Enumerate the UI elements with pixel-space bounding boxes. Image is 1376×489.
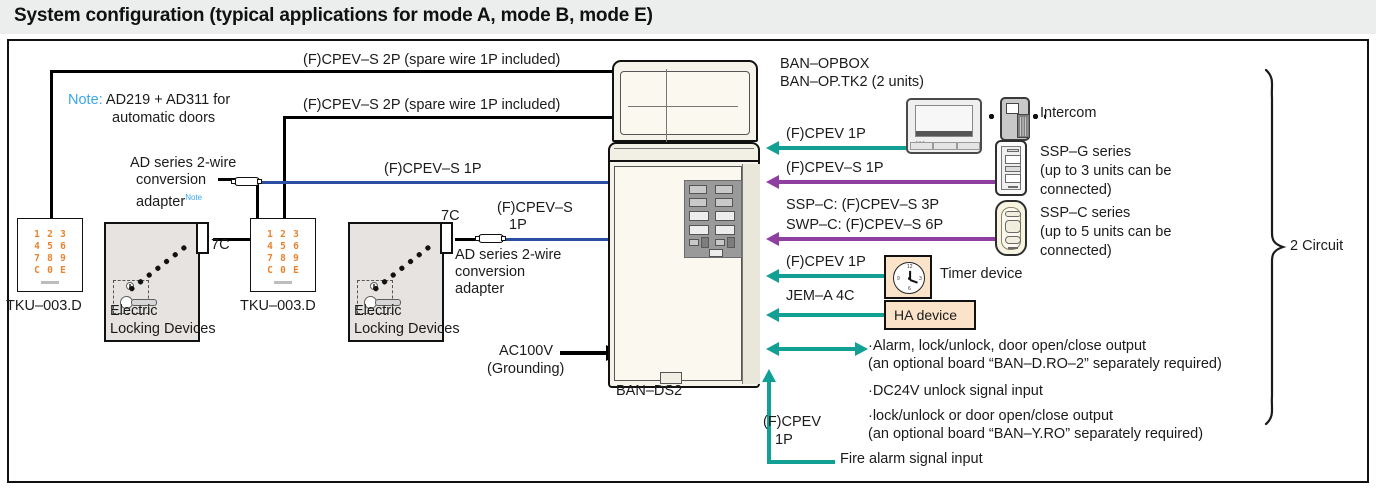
arrow-label-5: JEM–A 4C [786, 288, 855, 305]
ssp-g-panel [1005, 155, 1021, 164]
clock-12: 12 [907, 264, 913, 270]
arrow-line-output-bidir [779, 347, 855, 351]
wire-label-blue-2-line1: (F)CPEV–S [497, 200, 573, 217]
key[interactable]: 8 [277, 253, 290, 265]
adapter-pin-right-2 [501, 236, 506, 241]
arrow-line-jem-a-4c [779, 313, 885, 317]
monitor-button[interactable] [910, 142, 933, 150]
keypad-tku-003d-1[interactable]: 1 2 3 4 5 6 7 8 9 C 0 E [17, 218, 83, 292]
fire-alarm-label: Fire alarm signal input [840, 451, 983, 468]
key[interactable]: 3 [290, 229, 303, 241]
key[interactable]: 6 [57, 241, 70, 253]
arrowhead-jem-a-4c [766, 308, 779, 322]
ssp-g-label-line3: connected) [1040, 182, 1112, 199]
key[interactable]: 2 [44, 229, 57, 241]
panel-button[interactable] [715, 198, 733, 207]
key[interactable]: E [57, 265, 70, 277]
panel-indicator [715, 239, 725, 246]
adapter-2-line2: conversion [455, 264, 525, 281]
ds2-control-panel[interactable] [684, 180, 742, 258]
panel-button[interactable] [689, 185, 707, 194]
panel-indicator [727, 237, 735, 248]
ds2-lid-line [614, 148, 754, 158]
ds2-label: BAN–DS2 [616, 383, 682, 400]
fire-wire-label-line2: 1P [775, 432, 793, 449]
panel-indicator [701, 237, 709, 248]
ds2-upper-housing [612, 60, 758, 142]
arrow-label-3-line2: SWP–C: (F)CPEV–S 6P [786, 217, 943, 234]
intercom-device [1000, 97, 1030, 141]
arrowhead-output-right [855, 342, 868, 356]
key[interactable]: 1 [264, 229, 277, 241]
adapter-2-line1: AD series 2-wire [455, 247, 561, 264]
arrow-line-sspc-swpc [779, 237, 995, 241]
panel-button[interactable] [689, 225, 709, 235]
ssp-g-panel [1005, 166, 1021, 172]
ssp-g-panel [1005, 174, 1021, 183]
timer-label: Timer device [940, 266, 1022, 283]
key[interactable]: 6 [290, 241, 303, 253]
keypad-strip-1 [41, 281, 59, 284]
output-2: ·DC24V unlock signal input [868, 383, 1043, 400]
panel-button[interactable] [715, 211, 735, 221]
diagram-page: System configuration (typical applicatio… [0, 0, 1376, 489]
ha-device-label: HA device [894, 307, 957, 323]
adapter-pin-left-1 [231, 179, 236, 184]
clock-6: 6 [908, 286, 911, 292]
arrow-label-1: (F)CPEV 1P [786, 126, 866, 143]
intercom-speaker-grill [1017, 114, 1030, 138]
adapter-pin-right-1 [257, 179, 262, 184]
key[interactable]: 9 [57, 253, 70, 265]
wire-label-top-1: (F)CPEV–S 2P (spare wire 1P included) [303, 52, 560, 69]
wire-blue-2 [493, 238, 615, 241]
ssp-c-device [995, 200, 1027, 256]
keypad-1-label: TKU–003.D [6, 298, 82, 315]
ac100v-label-line1: AC100V [499, 343, 553, 360]
ssp-g-label-line2: (up to 3 units can be [1040, 163, 1171, 180]
monitor-button[interactable] [957, 142, 980, 150]
ac100v-label-line2: (Grounding) [487, 361, 564, 378]
adapter-1-line3: adapter [136, 194, 185, 210]
clock-9: 9 [897, 276, 900, 282]
clock-3: 3 [919, 276, 922, 282]
keypad-keys-2: 1 2 3 4 5 6 7 8 9 C 0 E [264, 229, 303, 277]
eld-2-label-line1: Electric [354, 303, 402, 320]
ssp-g-label-line1: SSP–G series [1040, 144, 1131, 161]
ssp-c-panel [1005, 220, 1021, 233]
note-line2: automatic doors [112, 110, 215, 127]
keypad-2-label: TKU–003.D [240, 298, 316, 315]
panel-button[interactable] [689, 211, 709, 221]
arrow-line-cpev-1p-monitor [779, 146, 907, 150]
key[interactable]: C [264, 265, 277, 277]
key[interactable]: 1 [31, 229, 44, 241]
key[interactable]: 0 [44, 265, 57, 277]
fire-wire-label-line1: (F)CPEV [763, 414, 821, 431]
key[interactable]: 4 [264, 241, 277, 253]
arrowhead-cpev-1p-timer [766, 269, 779, 283]
adapter-1-line1: AD series 2-wire [130, 155, 236, 172]
header-bar: System configuration (typical applicatio… [0, 0, 1376, 34]
clock-icon: 12 3 6 9 [893, 262, 925, 294]
ds2-upper-panel [620, 71, 750, 135]
arrowhead-sspc-swpc [766, 232, 779, 246]
panel-button[interactable] [715, 225, 735, 235]
wire-keypad2-vertical [283, 116, 286, 218]
note-block: Note: AD219 + AD311 for [68, 92, 230, 109]
ssp-g-slot [1008, 186, 1018, 188]
key[interactable]: 0 [277, 265, 290, 277]
key[interactable]: 5 [44, 241, 57, 253]
ssp-c-panel [1005, 236, 1021, 244]
key[interactable]: 5 [277, 241, 290, 253]
key[interactable]: 7 [264, 253, 277, 265]
key[interactable]: 7 [31, 253, 44, 265]
note-label: Note: [68, 92, 103, 108]
ha-device: HA device [884, 300, 976, 330]
ssp-c-slot [1008, 247, 1018, 249]
ssp-c-label-line3: connected) [1040, 243, 1112, 260]
key[interactable]: 2 [277, 229, 290, 241]
panel-button[interactable] [715, 185, 733, 194]
ban-op-monitor[interactable] [906, 98, 982, 154]
key[interactable]: E [290, 265, 303, 277]
output-1-line2: (an optional board “BAN–D.RO–2” separate… [868, 356, 1222, 373]
ssp-g-slot [1007, 149, 1019, 152]
ssp-c-inner [1001, 207, 1021, 250]
ban-ds2-unit [598, 60, 766, 390]
arrow-label-4: (F)CPEV 1P [786, 254, 866, 271]
terminal-1-label: 7C [211, 237, 230, 254]
arrow-label-3-line1: SSP–C: (F)CPEV–S 3P [786, 197, 939, 214]
opbox-label-line1: BAN–OPBOX [780, 56, 869, 73]
keypad-keys-1: 1 2 3 4 5 6 7 8 9 C 0 E [31, 229, 70, 277]
opbox-label-line2: BAN–OP.TK2 (2 units) [780, 74, 924, 91]
eld-1-label-line2: Locking Devices [110, 321, 216, 338]
circuit-brace [1262, 68, 1288, 426]
keypad-strip-2 [274, 281, 292, 284]
wire-keypad1-vertical [50, 70, 53, 218]
wire-label-blue-1: (F)CPEV–S 1P [384, 161, 482, 178]
intercom-label: Intercom [1040, 105, 1096, 122]
wire-top-1 [50, 70, 615, 73]
ds2-upper-divider-h [628, 106, 738, 107]
terminal-block-1 [196, 222, 209, 254]
key[interactable]: 3 [57, 229, 70, 241]
timer-device: 12 3 6 9 [884, 255, 932, 299]
key[interactable]: 4 [31, 241, 44, 253]
adapter-2-line3: adapter [455, 281, 504, 298]
arrow-line-cpev-1p-timer [779, 274, 885, 278]
monitor-buttons[interactable] [910, 142, 980, 150]
ssp-c-panel [1005, 211, 1021, 217]
terminal-2-label: 7C [441, 208, 460, 225]
ssp-c-label-line2: (up to 5 units can be [1040, 224, 1171, 241]
arrow-line-cpev-s-1p-sspg [779, 180, 995, 184]
output-1-line1: ·Alarm, lock/unlock, door open/close out… [868, 338, 1146, 355]
adapter-pin-left-2 [475, 236, 480, 241]
arrowhead-cpev-1p-monitor [766, 141, 779, 155]
key[interactable]: 8 [44, 253, 57, 265]
adapter-note-superscript: Note [185, 193, 202, 202]
ssp-c-label-line1: SSP–C series [1040, 205, 1130, 222]
wire-label-top-2: (F)CPEV–S 2P (spare wire 1P included) [303, 97, 560, 114]
output-3-line1: ·lock/unlock or door open/close output [868, 408, 1113, 425]
wire-label-blue-2-line2: 1P [509, 217, 527, 234]
arrowhead-output-left [766, 342, 779, 356]
eld-1-label-line1: Electric [110, 303, 158, 320]
wire-blue-1 [248, 181, 615, 184]
page-title: System configuration (typical applicatio… [14, 5, 653, 27]
key[interactable]: 9 [290, 253, 303, 265]
ad-conversion-adapter-2 [474, 234, 508, 243]
keypad-tku-003d-2[interactable]: 1 2 3 4 5 6 7 8 9 C 0 E [250, 218, 316, 292]
arrow-label-2: (F)CPEV–S 1P [786, 160, 884, 177]
eld-2-label-line2: Locking Devices [354, 321, 460, 338]
intercom-display [1006, 103, 1019, 114]
monitor-button[interactable] [933, 142, 956, 150]
brace-label: 2 Circuit [1290, 238, 1343, 254]
ssp-g-inner [1001, 146, 1021, 190]
arrowhead-fire-alarm [762, 369, 776, 382]
panel-indicator [689, 239, 699, 246]
adapter-1-line3-wrap: adapterNote [136, 189, 202, 211]
panel-button[interactable] [689, 198, 707, 207]
key[interactable]: C [31, 265, 44, 277]
ds2-side-panel [742, 164, 760, 384]
output-3-line2: (an optional board “BAN–Y.RO” separately… [868, 426, 1203, 443]
panel-button[interactable] [709, 249, 723, 257]
adapter-1-line2: conversion [136, 172, 206, 189]
ad-conversion-adapter-1 [230, 177, 264, 186]
wire-fire-alarm-horizontal [767, 460, 835, 464]
note-line1: AD219 + AD311 for [106, 92, 230, 108]
monitor-screen [915, 105, 973, 137]
wire-top-2 [283, 116, 615, 119]
terminal-block-2 [440, 222, 453, 254]
ssp-g-device [995, 140, 1027, 196]
arrowhead-cpev-s-1p-sspg [766, 175, 779, 189]
